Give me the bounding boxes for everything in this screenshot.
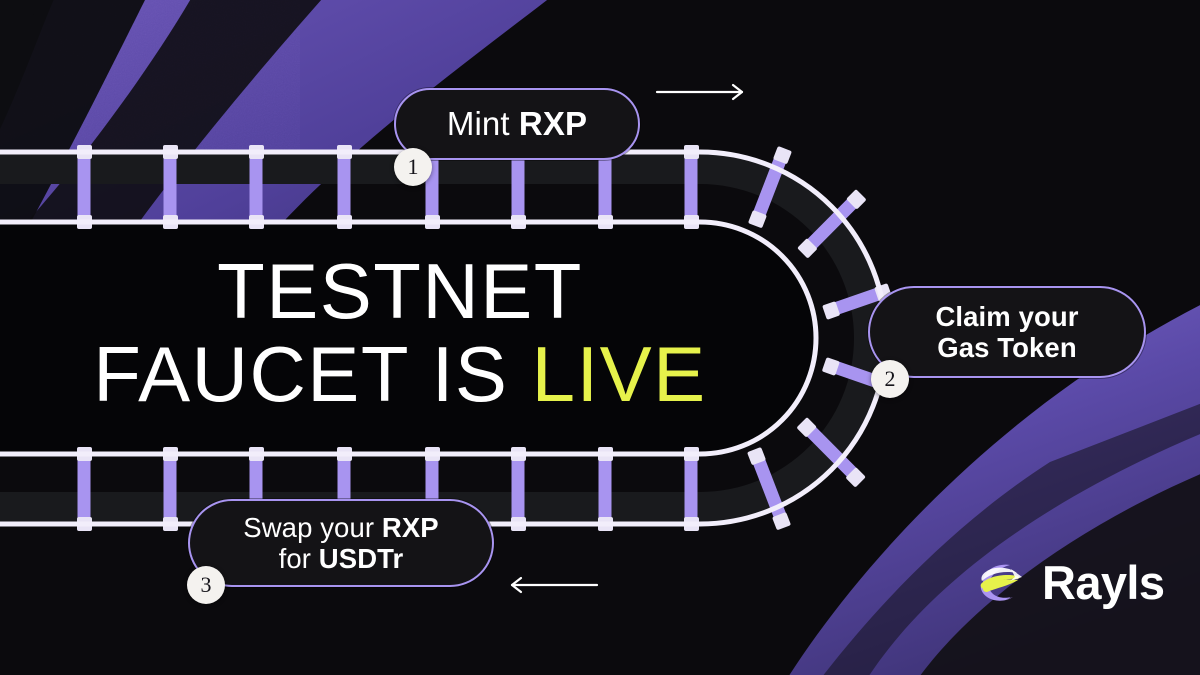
promo-graphic: TESTNET FAUCET IS LIVE Mint RXP 1 Claim … bbox=[0, 0, 1200, 675]
step-3-line-1-bold: RXP bbox=[382, 512, 439, 543]
page-title: TESTNET FAUCET IS LIVE bbox=[0, 250, 800, 417]
step-callout-claim-gas-token[interactable]: Claim your Gas Token bbox=[868, 286, 1146, 378]
step-callout-swap-rxp[interactable]: Swap your RXP for USDTr bbox=[188, 499, 494, 587]
arrow-right-top-icon bbox=[657, 85, 742, 99]
headline-line-2-prefix: FAUCET IS bbox=[93, 330, 531, 418]
step-3-line-1: Swap your RXP bbox=[243, 512, 438, 543]
step-badge-2: 2 bbox=[871, 360, 909, 398]
step-1-text-regular: Mint bbox=[447, 105, 519, 142]
brand-logo[interactable]: Rayls bbox=[975, 556, 1164, 608]
step-3-line-1-regular: Swap your bbox=[243, 512, 382, 543]
step-3-line-2-bold: USDTr bbox=[319, 543, 404, 574]
step-badge-3: 3 bbox=[187, 566, 225, 604]
step-callout-mint-rxp[interactable]: Mint RXP bbox=[394, 88, 640, 160]
step-2-line-1: Claim your bbox=[935, 301, 1078, 332]
arrow-left-bottom-icon bbox=[512, 578, 597, 592]
step-3-line-2-regular: for bbox=[279, 543, 319, 574]
step-3-line-2: for USDTr bbox=[279, 543, 404, 574]
step-badge-1: 1 bbox=[394, 148, 432, 186]
rayls-swoosh-icon bbox=[975, 556, 1031, 608]
headline-highlight-live: LIVE bbox=[532, 330, 707, 418]
headline-line-1: TESTNET bbox=[0, 250, 800, 333]
step-1-text-bold: RXP bbox=[519, 105, 587, 142]
brand-wordmark: Rayls bbox=[1042, 559, 1164, 606]
step-1-text: Mint RXP bbox=[447, 105, 587, 143]
headline-line-2: FAUCET IS LIVE bbox=[0, 333, 800, 416]
step-2-line-2: Gas Token bbox=[937, 332, 1076, 363]
